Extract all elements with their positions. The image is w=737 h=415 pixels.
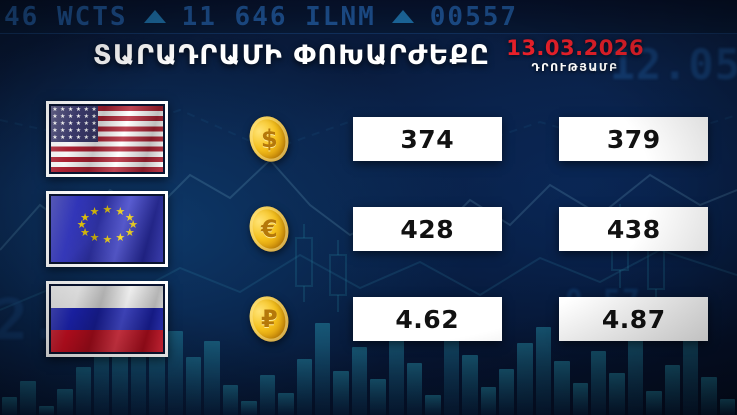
- exchange-rate-board: -12.05 2.6 0,57 46 WCTS 11 646 ILNM 0055…: [0, 0, 737, 415]
- vignette-overlay: [0, 0, 737, 415]
